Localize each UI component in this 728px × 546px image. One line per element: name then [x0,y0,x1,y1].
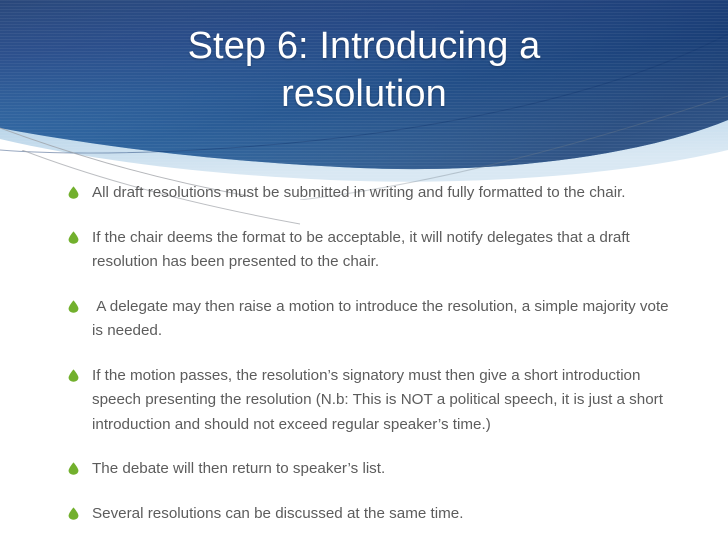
list-item-text: A delegate may then raise a motion to in… [92,295,674,344]
list-item: All draft resolutions must be submitted … [62,181,674,206]
list-item-text: The debate will then return to speaker’s… [92,457,674,482]
list-item: A delegate may then raise a motion to in… [62,295,674,344]
list-item-text: All draft resolutions must be submitted … [92,181,674,206]
teardrop-bullet-icon [68,462,79,475]
presentation-slide: Step 6: Introducing a resolution All dra… [0,0,728,546]
list-item: If the chair deems the format to be acce… [62,226,674,275]
slide-title-line-2: resolution [0,70,728,118]
list-item: The debate will then return to speaker’s… [62,457,674,482]
teardrop-bullet-icon [68,507,79,520]
teardrop-bullet-icon [68,186,79,199]
slide-title-line-1: Step 6: Introducing a [0,22,728,70]
teardrop-bullet-icon [68,231,79,244]
list-item: Several resolutions can be discussed at … [62,502,674,527]
list-item-text: If the motion passes, the resolution’s s… [92,364,674,438]
bullet-list: All draft resolutions must be submitted … [62,181,674,526]
list-item: If the motion passes, the resolution’s s… [62,364,674,438]
teardrop-bullet-icon [68,369,79,382]
teardrop-bullet-icon [68,300,79,313]
list-item-text: If the chair deems the format to be acce… [92,226,674,275]
list-item-text: Several resolutions can be discussed at … [92,502,674,527]
slide-title: Step 6: Introducing a resolution [0,22,728,118]
